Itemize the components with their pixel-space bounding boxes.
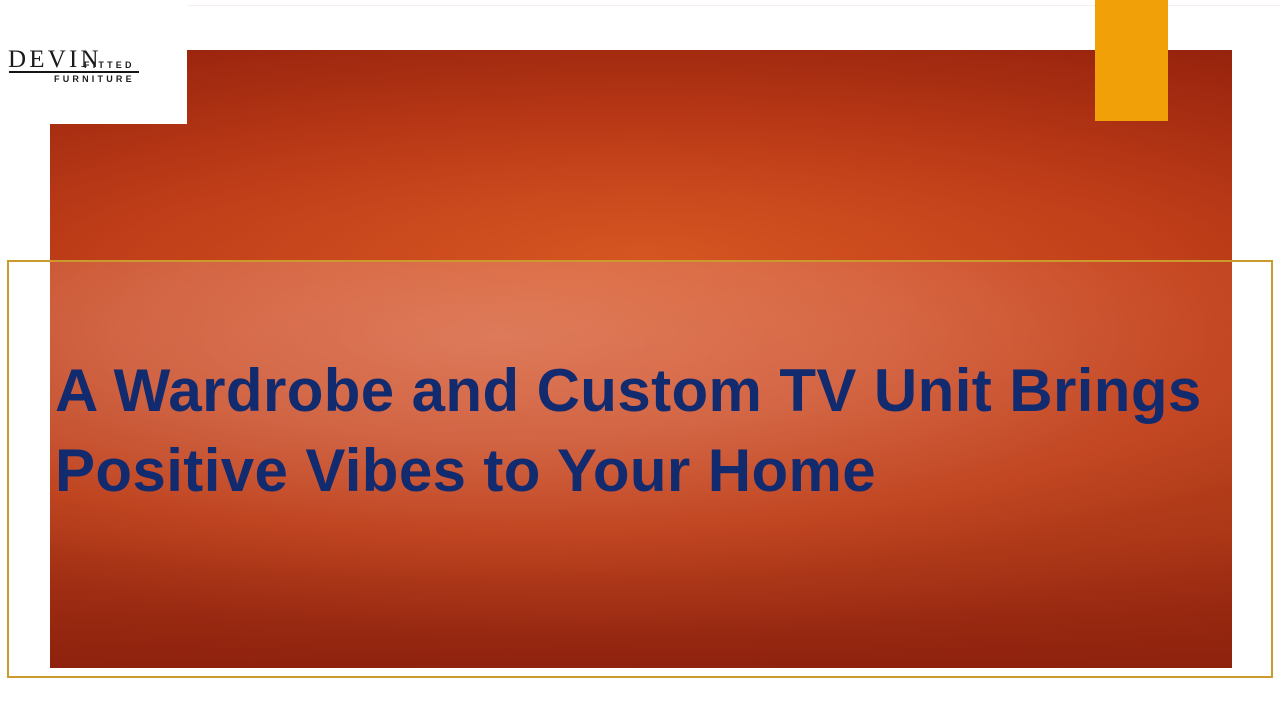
brand-wordmark-underline <box>9 71 139 73</box>
brand-tagline-line-1: FITTED <box>84 61 135 70</box>
brand-tagline-line-2: FURNITURE <box>54 75 135 84</box>
accent-bar-yellow <box>1095 0 1168 121</box>
presentation-slide: DEVIN FITTED FURNITURE A Wardrobe and Cu… <box>0 0 1280 720</box>
brand-logo-inner: DEVIN FITTED FURNITURE <box>8 47 180 91</box>
brand-logo[interactable]: DEVIN FITTED FURNITURE <box>0 0 187 124</box>
slide-title: A Wardrobe and Custom TV Unit Brings Pos… <box>55 351 1280 511</box>
